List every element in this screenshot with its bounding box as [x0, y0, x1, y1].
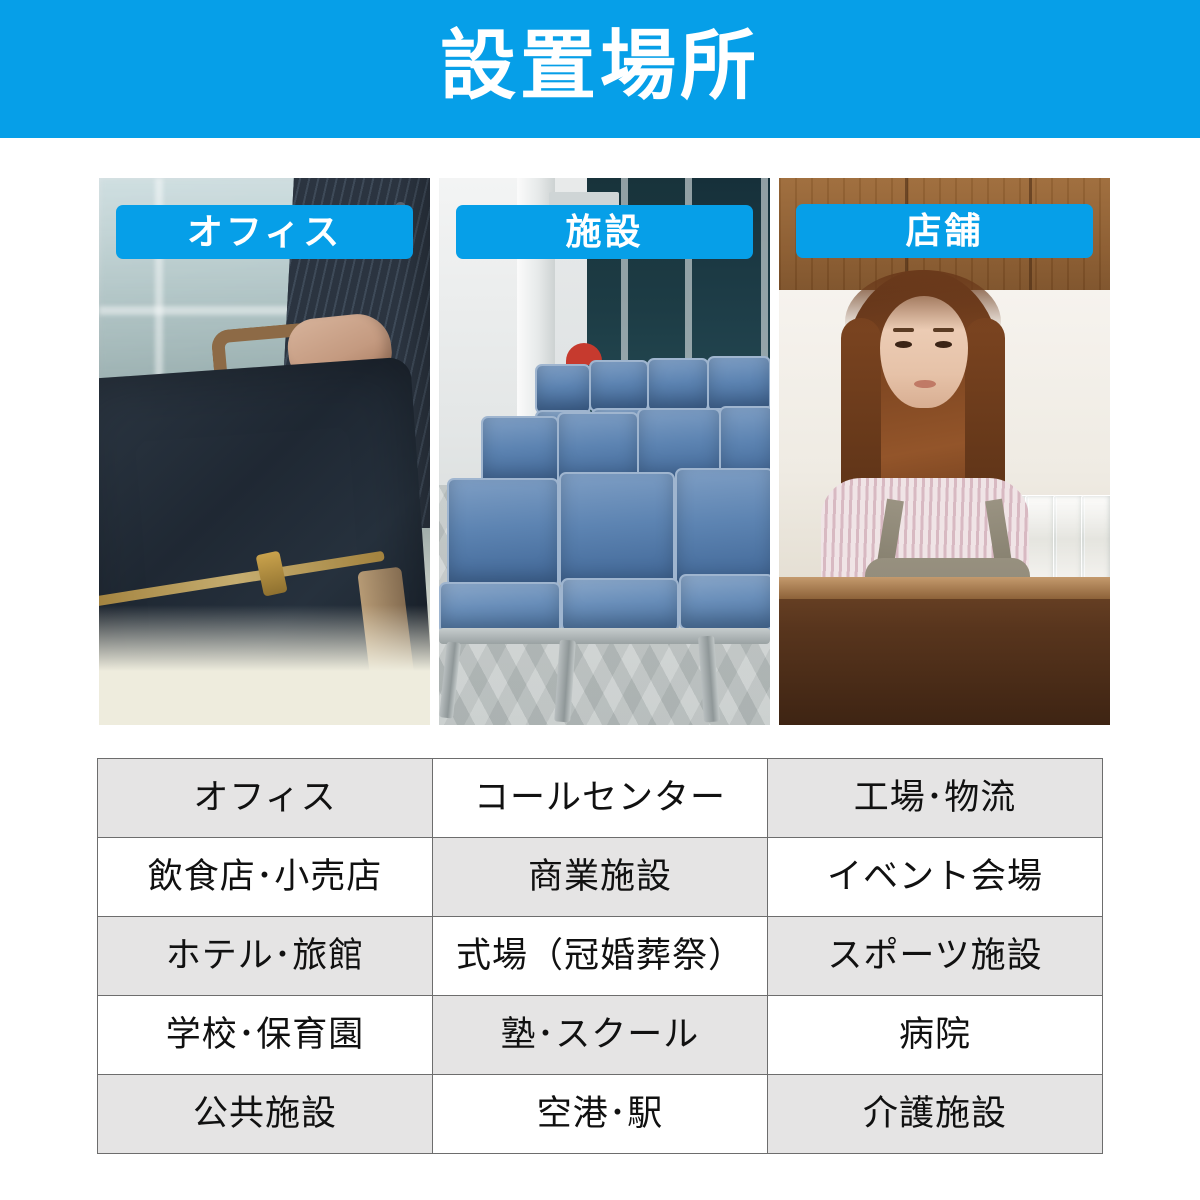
eye-shape: [895, 341, 912, 348]
table-cell: 工場･物流: [768, 759, 1103, 838]
chair-back-shape: [647, 358, 709, 412]
chair-back-shape: [589, 360, 649, 412]
table-cell: 学校･保育園: [98, 996, 433, 1075]
table-cell: 介護施設: [768, 1075, 1103, 1154]
counter-shape: [779, 577, 1110, 725]
eyebrow-shape: [893, 328, 914, 332]
table-cell: イベント会場: [768, 838, 1103, 917]
chair-seat-shape: [439, 582, 561, 634]
photo-label-office: オフィス: [116, 205, 413, 259]
counter-edge-shape: [779, 577, 1110, 599]
photo-image-facility: [439, 178, 770, 725]
venue-table: オフィス コールセンター 工場･物流 飲食店･小売店 商業施設 イベント会場 ホ…: [97, 758, 1103, 1154]
bag-zipper-shape: [99, 551, 385, 608]
chair-back-shape: [481, 416, 559, 486]
chair-back-shape: [675, 468, 770, 588]
office-floor-shape: [99, 605, 430, 725]
chair-rail-shape: [439, 628, 770, 644]
eyebrow-shape: [933, 328, 954, 332]
table-row: 学校･保育園 塾･スクール 病院: [98, 996, 1103, 1075]
photo-label-store: 店舗: [796, 204, 1093, 258]
photo-card-store: 店舗: [779, 178, 1110, 725]
table-cell: オフィス: [98, 759, 433, 838]
table-cell: 塾･スクール: [433, 996, 768, 1075]
header-banner: 設置場所: [0, 0, 1200, 138]
table-cell: 空港･駅: [433, 1075, 768, 1154]
table-cell: 飲食店･小売店: [98, 838, 433, 917]
table-row: 飲食店･小売店 商業施設 イベント会場: [98, 838, 1103, 917]
chair-back-shape: [559, 472, 675, 588]
table-row: ホテル･旅館 式場（冠婚葬祭） スポーツ施設: [98, 917, 1103, 996]
page-title: 設置場所: [440, 29, 760, 105]
photo-image-store: [779, 178, 1110, 725]
photo-card-facility: 施設: [439, 178, 770, 725]
table-cell: 病院: [768, 996, 1103, 1075]
chair-seat-shape: [561, 578, 679, 632]
chair-seat-shape: [679, 574, 770, 630]
table-cell: 式場（冠婚葬祭）: [433, 917, 768, 996]
installation-locations-page: 設置場所 オフィス: [0, 0, 1200, 1200]
chair-back-shape: [447, 478, 559, 588]
table-cell: スポーツ施設: [768, 917, 1103, 996]
bag-zip-pull-shape: [256, 551, 288, 597]
table-cell: コールセンター: [433, 759, 768, 838]
table-row: 公共施設 空港･駅 介護施設: [98, 1075, 1103, 1154]
photo-strip: オフィス: [99, 178, 1101, 725]
eye-shape: [935, 341, 952, 348]
table-cell: ホテル･旅館: [98, 917, 433, 996]
photo-card-office: オフィス: [99, 178, 430, 725]
table-cell: 商業施設: [433, 838, 768, 917]
chair-back-shape: [707, 356, 770, 412]
photo-label-facility: 施設: [456, 205, 753, 259]
photo-image-office: [99, 178, 430, 725]
venue-table-body: オフィス コールセンター 工場･物流 飲食店･小売店 商業施設 イベント会場 ホ…: [98, 759, 1103, 1154]
mouth-shape: [914, 380, 936, 388]
table-row: オフィス コールセンター 工場･物流: [98, 759, 1103, 838]
office-mullion-shape: [99, 306, 304, 315]
table-cell: 公共施設: [98, 1075, 433, 1154]
chair-back-shape: [535, 364, 591, 414]
